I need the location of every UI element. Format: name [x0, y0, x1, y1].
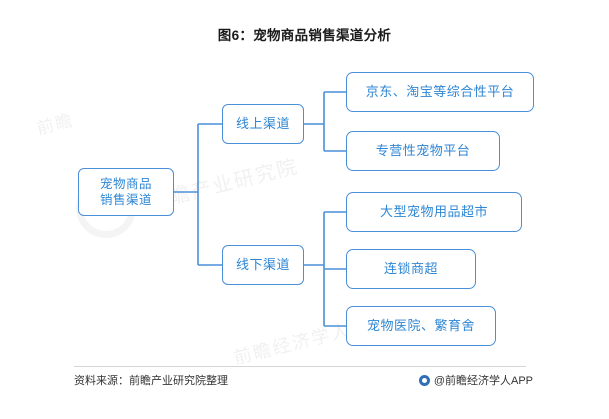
brand-logo-icon [419, 375, 430, 386]
node-leaf-hospital-breeding[interactable]: 宠物医院、繁育舍 [346, 306, 496, 346]
node-branch-offline[interactable]: 线下渠道 [222, 245, 304, 285]
diagram-canvas: 前瞻 前瞻产业研究院 前瞻经济学人 图6：宠物商品销售渠道分析 宠物商品 销售渠… [0, 0, 609, 419]
attribution-label: @前瞻经济学人APP [434, 372, 533, 388]
node-leaf-comprehensive-platform[interactable]: 京东、淘宝等综合性平台 [346, 72, 534, 112]
node-leaf-chain-store[interactable]: 连锁商超 [346, 249, 476, 289]
source-note: 资料来源：前瞻产业研究院整理 [74, 372, 228, 388]
page-title: 图6：宠物商品销售渠道分析 [0, 24, 609, 44]
node-root[interactable]: 宠物商品 销售渠道 [78, 168, 174, 216]
node-leaf-supermarket[interactable]: 大型宠物用品超市 [346, 192, 522, 232]
node-branch-online[interactable]: 线上渠道 [222, 104, 304, 144]
watermark-text: 前瞻 [34, 106, 77, 139]
footer-divider [74, 366, 526, 367]
watermark-text: 前瞻经济学人 [231, 316, 354, 370]
node-leaf-specialized-platform[interactable]: 专营性宠物平台 [346, 131, 500, 171]
attribution: @前瞻经济学人APP [419, 372, 533, 388]
